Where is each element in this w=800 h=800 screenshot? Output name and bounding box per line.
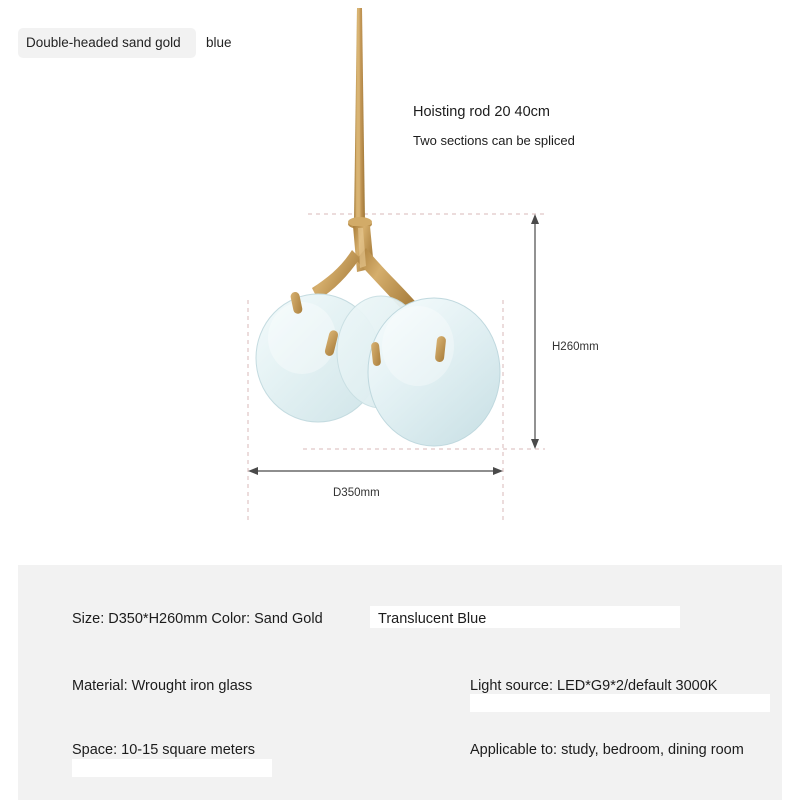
diameter-dimension-label: D350mm	[333, 487, 380, 499]
hoisting-rod-note-secondary: Two sections can be spliced	[413, 133, 575, 148]
diameter-dimension-line	[248, 467, 503, 475]
glass-shade-right	[368, 298, 500, 446]
hoisting-rod	[354, 8, 365, 222]
spec-applicable-label: Applicable to: study, bedroom, dining ro…	[470, 742, 744, 758]
spec-space-label: Space: 10-15 square meters	[72, 742, 255, 758]
spec-material-label: Material: Wrought iron glass	[72, 678, 252, 694]
light-source-highlight-band	[470, 694, 770, 712]
height-dimension-line	[531, 214, 539, 449]
hoisting-rod-note-primary: Hoisting rod 20 40cm	[413, 104, 550, 120]
product-diagram	[0, 0, 800, 560]
height-dimension-label: H260mm	[552, 341, 599, 353]
spec-color-label: Translucent Blue	[378, 611, 486, 627]
spec-size-label: Size: D350*H260mm Color: Sand Gold	[72, 611, 323, 627]
space-highlight-band	[72, 759, 272, 777]
spec-light-source-label: Light source: LED*G9*2/default 3000K	[470, 678, 717, 694]
